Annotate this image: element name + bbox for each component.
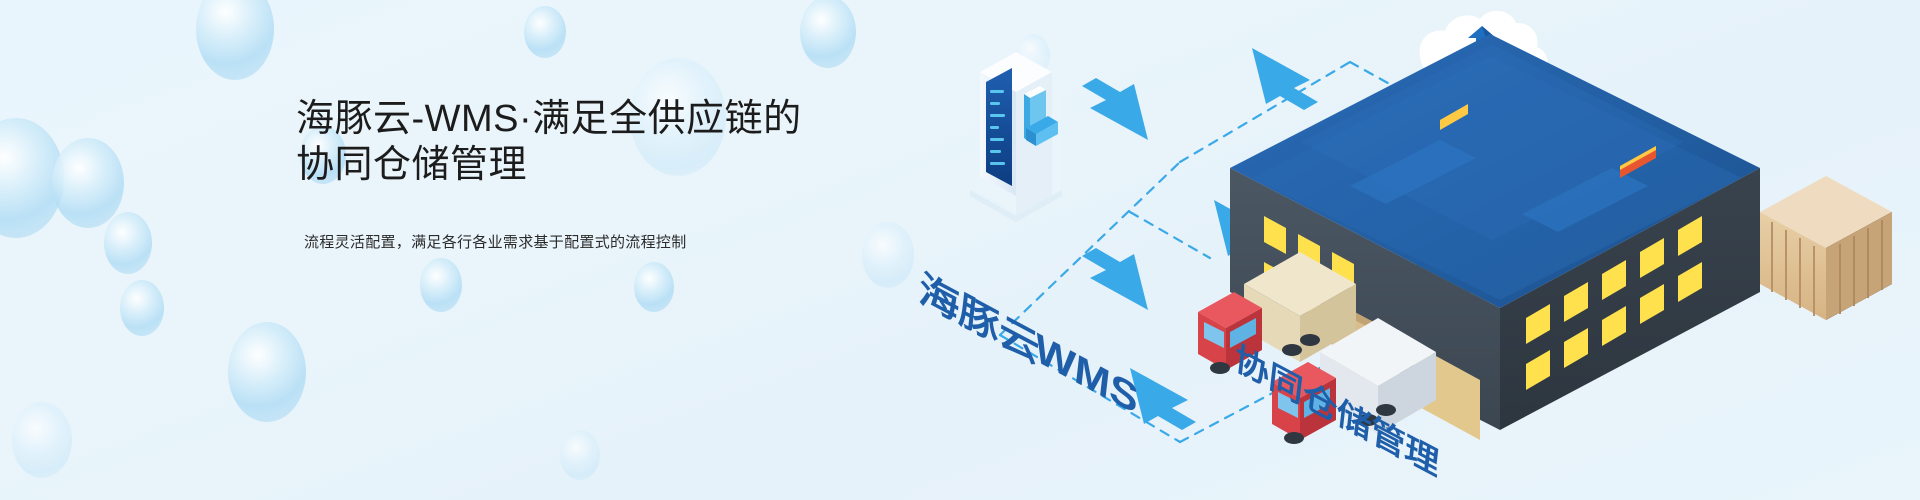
illustration-brand-label: 海豚云 [917, 265, 1042, 371]
bubble [420, 258, 462, 312]
container-icon [1760, 176, 1892, 320]
product-label-text: WMS [1033, 325, 1141, 424]
bubble [560, 430, 600, 480]
illustration-product-label: WMS [1033, 325, 1141, 424]
bubble [52, 138, 124, 228]
page-title: 海豚云-WMS·满足全供应链的 协同仓储管理 [296, 96, 896, 188]
server-rack-icon [970, 42, 1062, 222]
hero-banner: 海豚云-WMS·满足全供应链的 协同仓储管理 流程灵活配置，满足各行各业需求基于… [0, 0, 1920, 500]
bubble [0, 118, 64, 238]
bubble [524, 6, 566, 58]
bubble [228, 322, 306, 422]
bubble [12, 402, 72, 478]
warehouse-illustration: 海豚云 WMS 协同仓储管理 [880, 0, 1920, 500]
bubble [634, 262, 674, 312]
bubble [120, 280, 164, 336]
brand-label-text: 海豚云 [917, 265, 1042, 371]
page-subtitle: 流程灵活配置，满足各行各业需求基于配置式的流程控制 [296, 232, 896, 254]
bubble [800, 0, 856, 68]
bubble [196, 0, 274, 80]
hero-text-block: 海豚云-WMS·满足全供应链的 协同仓储管理 流程灵活配置，满足各行各业需求基于… [296, 96, 896, 254]
bubble [104, 212, 152, 274]
